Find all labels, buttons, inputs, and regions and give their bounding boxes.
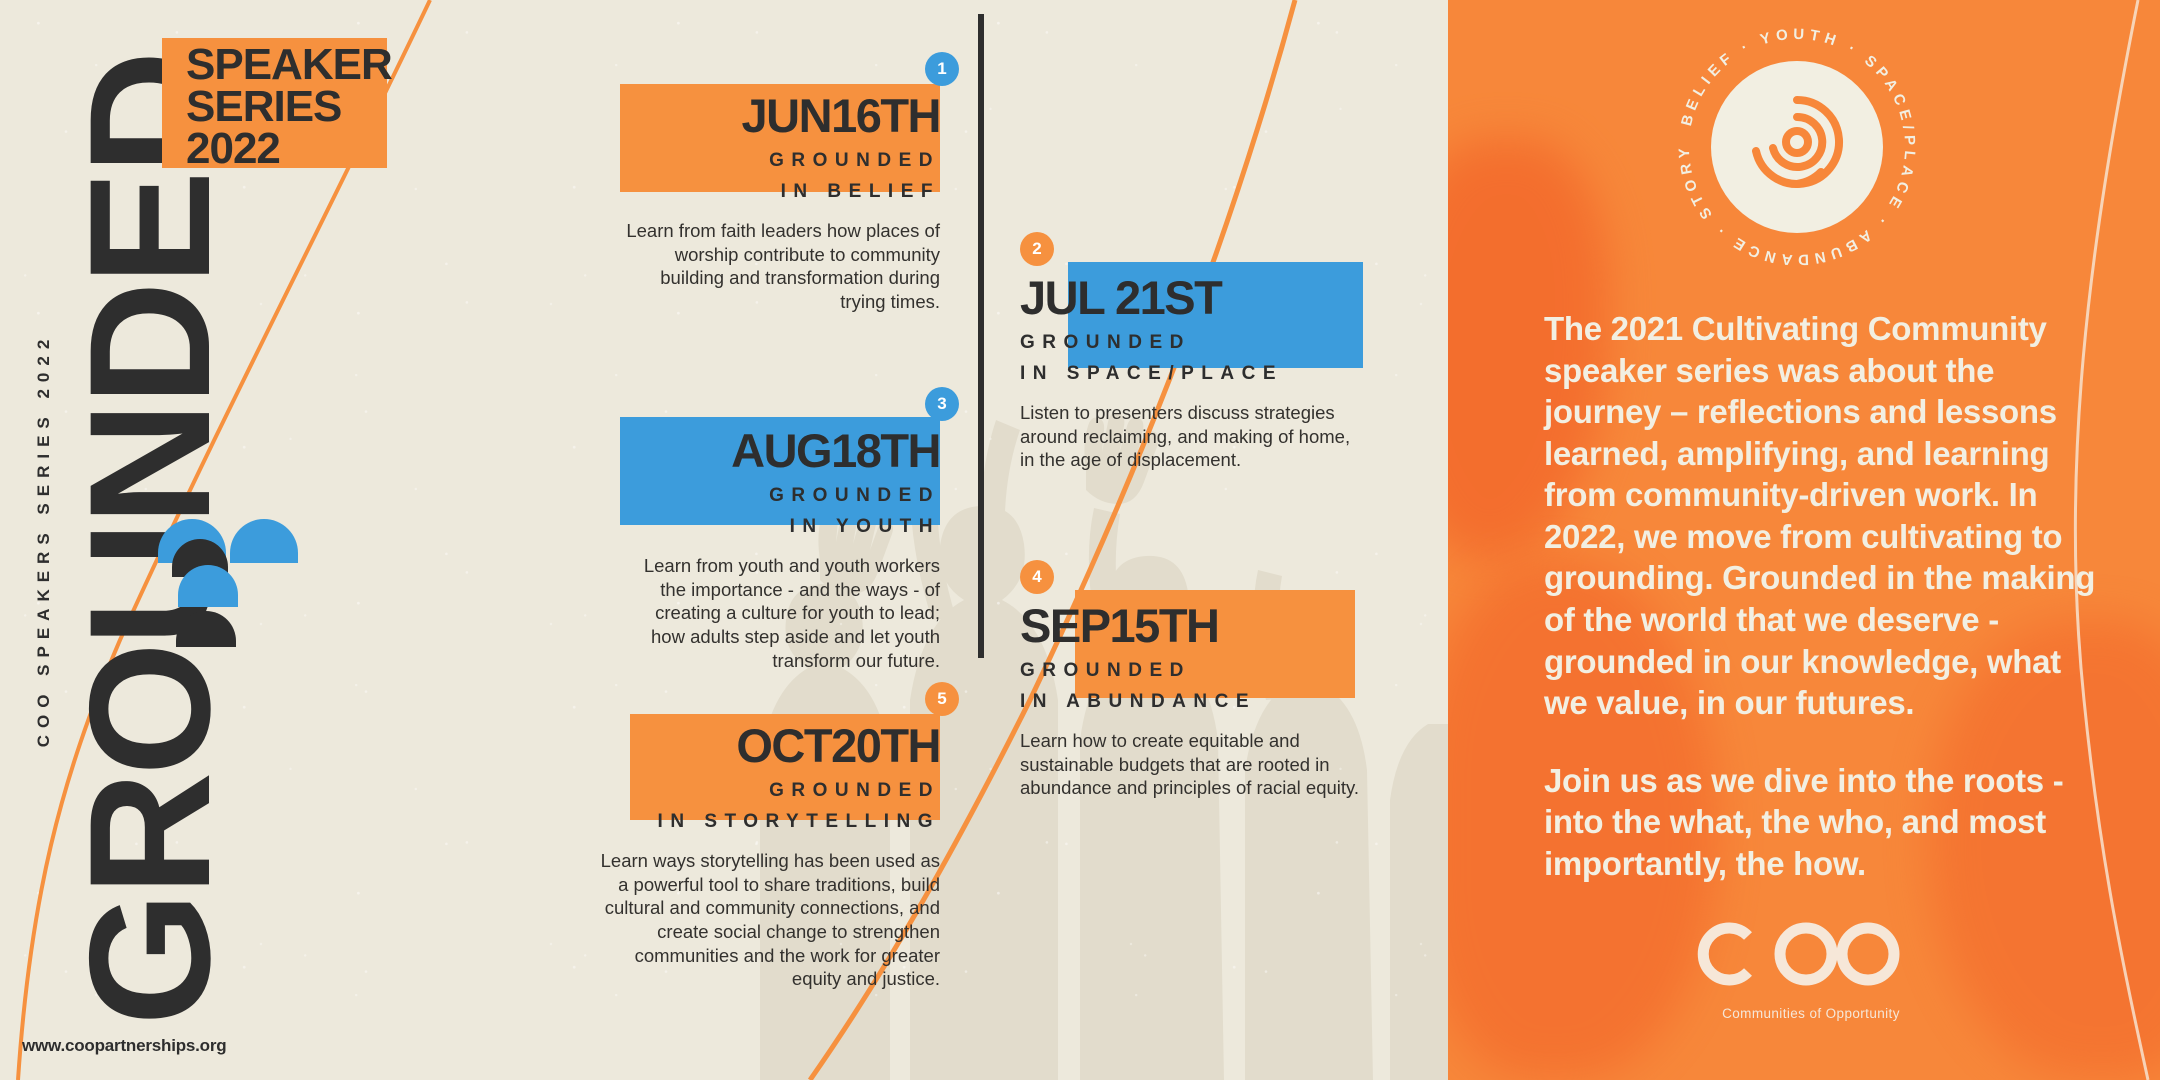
column-divider-rule bbox=[978, 14, 984, 658]
event-card-3[interactable]: 3 AUG18TH GROUNDED IN YOUTH Learn from y… bbox=[620, 395, 940, 672]
event-card-4[interactable]: 4 SEP15TH GROUNDED IN ABUNDANCE Learn ho… bbox=[1020, 570, 1365, 800]
series-title-line-2: SERIES bbox=[186, 86, 392, 128]
event-2-theme: IN SPACE/PLACE bbox=[1020, 363, 1365, 385]
panel-body-copy: The 2021 Cultivating Community speaker s… bbox=[1544, 308, 2104, 885]
event-4-description: Learn how to create equitable and sustai… bbox=[1020, 729, 1365, 800]
series-title: SPEAKER SERIES 2022 bbox=[186, 44, 392, 169]
series-title-line-3: 2022 bbox=[186, 128, 392, 170]
event-card-2[interactable]: 2 JUL 21ST GROUNDED IN SPACE/PLACE Liste… bbox=[1020, 240, 1365, 472]
panel-paragraph-2-emphasis: the how. bbox=[1736, 845, 1866, 882]
panel-paragraph-2: Join us as we dive into the roots - into… bbox=[1544, 760, 2104, 885]
event-1-badge: 1 bbox=[925, 52, 959, 86]
coo-footer-logo bbox=[1696, 910, 1916, 1020]
poster: GROUNDED COO SPEAKERS SERIES 2022 SPEAKE… bbox=[0, 0, 2160, 1080]
event-2-date: JUL 21ST bbox=[1020, 240, 1365, 321]
event-1-date: JUN16TH bbox=[620, 60, 940, 139]
arch-shapes-decoration bbox=[158, 505, 298, 650]
event-card-5[interactable]: 5 OCT20TH GROUNDED IN STORYTELLING Learn… bbox=[600, 690, 940, 991]
paragraph-spacer bbox=[1544, 724, 2104, 760]
event-1-grounded: GROUNDED bbox=[620, 150, 940, 172]
event-3-date: AUG18TH bbox=[620, 395, 940, 474]
event-5-date: OCT20TH bbox=[600, 690, 940, 769]
event-4-date: SEP15TH bbox=[1020, 570, 1365, 649]
event-4-grounded: GROUNDED bbox=[1020, 660, 1365, 682]
series-title-line-1: SPEAKER bbox=[186, 44, 392, 86]
event-5-theme: IN STORYTELLING bbox=[600, 811, 940, 833]
event-3-badge: 3 bbox=[925, 387, 959, 421]
event-1-theme: IN BELIEF bbox=[620, 181, 940, 203]
event-3-theme: IN YOUTH bbox=[620, 516, 940, 538]
right-orange-pane: BELIEF · YOUTH · SPACE/PLACE · ABUNDANCE… bbox=[1448, 0, 2160, 1080]
event-5-badge: 5 bbox=[925, 682, 959, 716]
event-2-description: Listen to presenters discuss strategies … bbox=[1020, 401, 1365, 472]
event-4-theme: IN ABUNDANCE bbox=[1020, 691, 1365, 713]
coo-footer-subtitle: Communities of Opportunity bbox=[1686, 1006, 1936, 1021]
event-1-description: Learn from faith leaders how places of w… bbox=[620, 219, 940, 314]
event-3-description: Learn from youth and youth workers the i… bbox=[620, 554, 940, 672]
coo-seal-logo: BELIEF · YOUTH · SPACE/PLACE · ABUNDANCE… bbox=[1662, 12, 1932, 282]
event-card-1[interactable]: 1 JUN16TH GROUNDED IN BELIEF Learn from … bbox=[620, 60, 940, 314]
event-3-grounded: GROUNDED bbox=[620, 485, 940, 507]
website-url[interactable]: www.coopartnerships.org bbox=[22, 1036, 226, 1056]
event-2-grounded: GROUNDED bbox=[1020, 332, 1365, 354]
vertical-series-label: COO SPEAKERS SERIES 2022 bbox=[34, 333, 54, 748]
event-4-badge: 4 bbox=[1020, 560, 1054, 594]
left-content-pane: GROUNDED COO SPEAKERS SERIES 2022 SPEAKE… bbox=[0, 0, 1448, 1080]
event-5-grounded: GROUNDED bbox=[600, 780, 940, 802]
event-2-badge: 2 bbox=[1020, 232, 1054, 266]
event-5-description: Learn ways storytelling has been used as… bbox=[600, 849, 940, 991]
panel-paragraph-1: The 2021 Cultivating Community speaker s… bbox=[1544, 308, 2104, 724]
